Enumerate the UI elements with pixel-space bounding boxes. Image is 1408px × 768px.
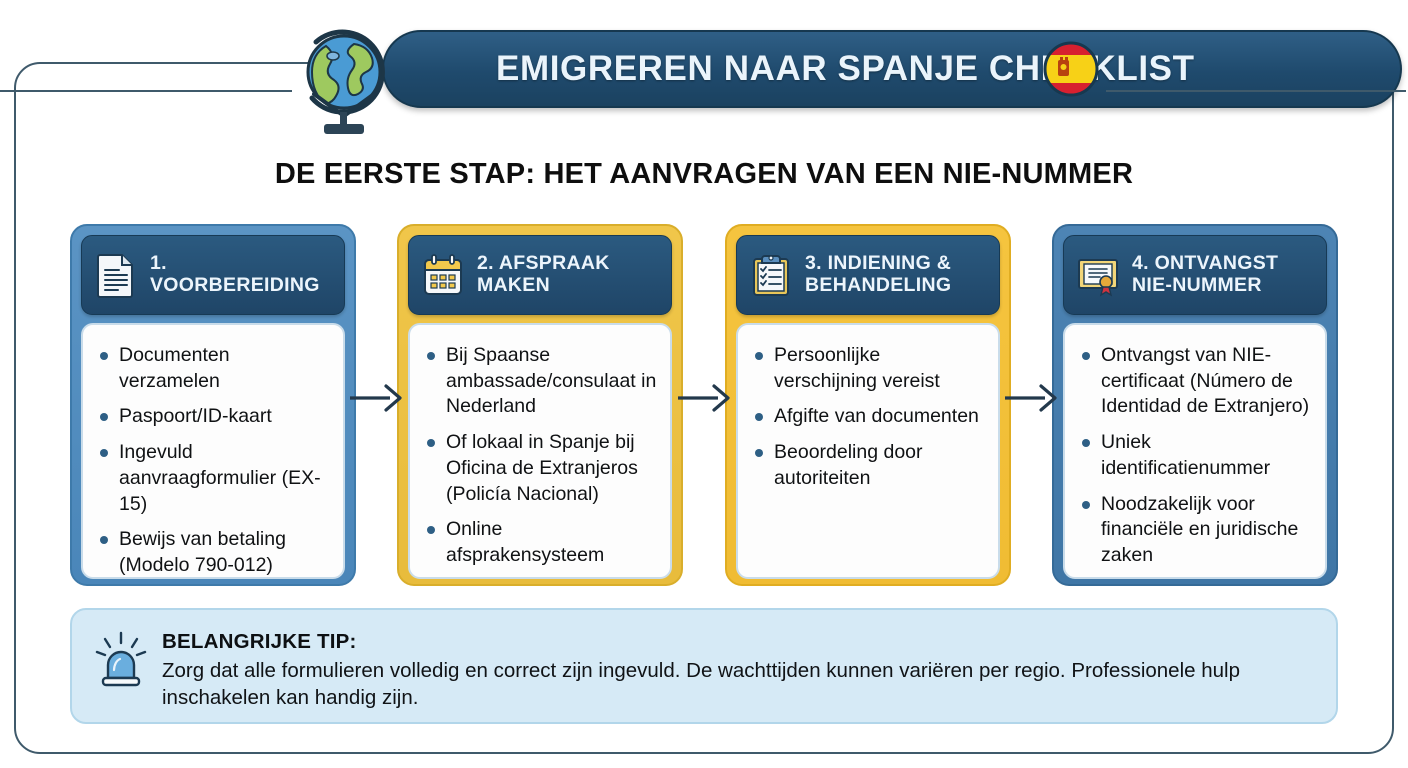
step-1-body: Documenten verzamelen Paspoort/ID-kaart … <box>81 323 345 579</box>
tip-text-block: BELANGRIJKE TIP: Zorg dat alle formulier… <box>162 628 1292 712</box>
tip-body: Zorg dat alle formulieren volledig en co… <box>162 657 1292 712</box>
list-item: Documenten verzamelen <box>97 343 333 394</box>
page-subtitle: DE EERSTE STAP: HET AANVRAGEN VAN EEN NI… <box>0 158 1408 191</box>
infographic-root: EMIGREREN NAAR SPANJE CHECKLIST <box>0 0 1408 768</box>
header-title: EMIGREREN NAAR SPANJE CHECKLIST <box>496 30 1286 108</box>
spain-flag-icon <box>1042 40 1100 98</box>
list-item: Uniek identificatienummer <box>1079 430 1315 481</box>
step-1-title: 1. VOORBEREIDING <box>150 253 334 297</box>
list-item: Of lokaal in Spanje bij Oficina de Extra… <box>424 430 660 507</box>
step-2-header: 2. AFSPRAAK MAKEN <box>408 235 672 315</box>
step-4-title: 4. ONTVANGST NIE-NUMMER <box>1132 253 1316 297</box>
header-banner: EMIGREREN NAAR SPANJE CHECKLIST <box>286 26 1114 112</box>
list-item: Beoordeling door autoriteiten <box>752 440 988 491</box>
step-3-header: 3. INDIENING & BEHANDELING <box>736 235 1000 315</box>
clipboard-checklist-icon <box>749 252 793 298</box>
list-item: Online afsprakensysteem <box>424 517 660 568</box>
important-tip-box: BELANGRIJKE TIP: Zorg dat alle formulier… <box>70 608 1338 724</box>
step-1-list: Documenten verzamelen Paspoort/ID-kaart … <box>97 343 333 579</box>
list-item: Bij Spaanse ambassade/consulaat in Neder… <box>424 343 660 420</box>
step-4-list: Ontvangst van NIE-certificaat (Número de… <box>1079 343 1315 569</box>
step-card-3[interactable]: 3. INDIENING & BEHANDELING Persoonlijke … <box>725 224 1011 586</box>
tip-title: BELANGRIJKE TIP: <box>162 630 1292 654</box>
step-1-header: 1. VOORBEREIDING <box>81 235 345 315</box>
step-card-4[interactable]: 4. ONTVANGST NIE-NUMMER Ontvangst van NI… <box>1052 224 1338 586</box>
list-item: Bewijs van betaling (Modelo 790-012) <box>97 527 333 578</box>
globe-icon <box>286 24 406 139</box>
header-connector-left <box>0 90 292 92</box>
step-card-2[interactable]: 2. AFSPRAAK MAKEN Bij Spaanse ambassade/… <box>397 224 683 586</box>
document-icon <box>94 252 138 298</box>
list-item: Afgifte van documenten <box>752 404 988 430</box>
step-3-title: 3. INDIENING & BEHANDELING <box>805 253 989 297</box>
arrow-right-icon <box>676 381 736 415</box>
certificate-icon <box>1076 252 1120 298</box>
arrow-right-icon <box>348 381 408 415</box>
arrow-right-icon <box>1003 381 1063 415</box>
list-item: Noodzakelijk voor financiële en juridisc… <box>1079 492 1315 569</box>
step-card-1[interactable]: 1. VOORBEREIDING Documenten verzamelen P… <box>70 224 356 586</box>
beacon-light-icon <box>94 630 148 688</box>
step-2-list: Bij Spaanse ambassade/consulaat in Neder… <box>424 343 660 569</box>
step-2-body: Bij Spaanse ambassade/consulaat in Neder… <box>408 323 672 579</box>
calendar-icon <box>421 252 465 298</box>
step-2-title: 2. AFSPRAAK MAKEN <box>477 253 661 297</box>
list-item: Ingevuld aanvraagformulier (EX-15) <box>97 440 333 517</box>
list-item: Paspoort/ID-kaart <box>97 404 333 430</box>
list-item: Persoonlijke verschijning vereist <box>752 343 988 394</box>
step-4-header: 4. ONTVANGST NIE-NUMMER <box>1063 235 1327 315</box>
step-3-list: Persoonlijke verschijning vereist Afgift… <box>752 343 988 492</box>
step-4-body: Ontvangst van NIE-certificaat (Número de… <box>1063 323 1327 579</box>
list-item: Ontvangst van NIE-certificaat (Número de… <box>1079 343 1315 420</box>
step-3-body: Persoonlijke verschijning vereist Afgift… <box>736 323 1000 579</box>
header-connector-right <box>1106 90 1406 92</box>
